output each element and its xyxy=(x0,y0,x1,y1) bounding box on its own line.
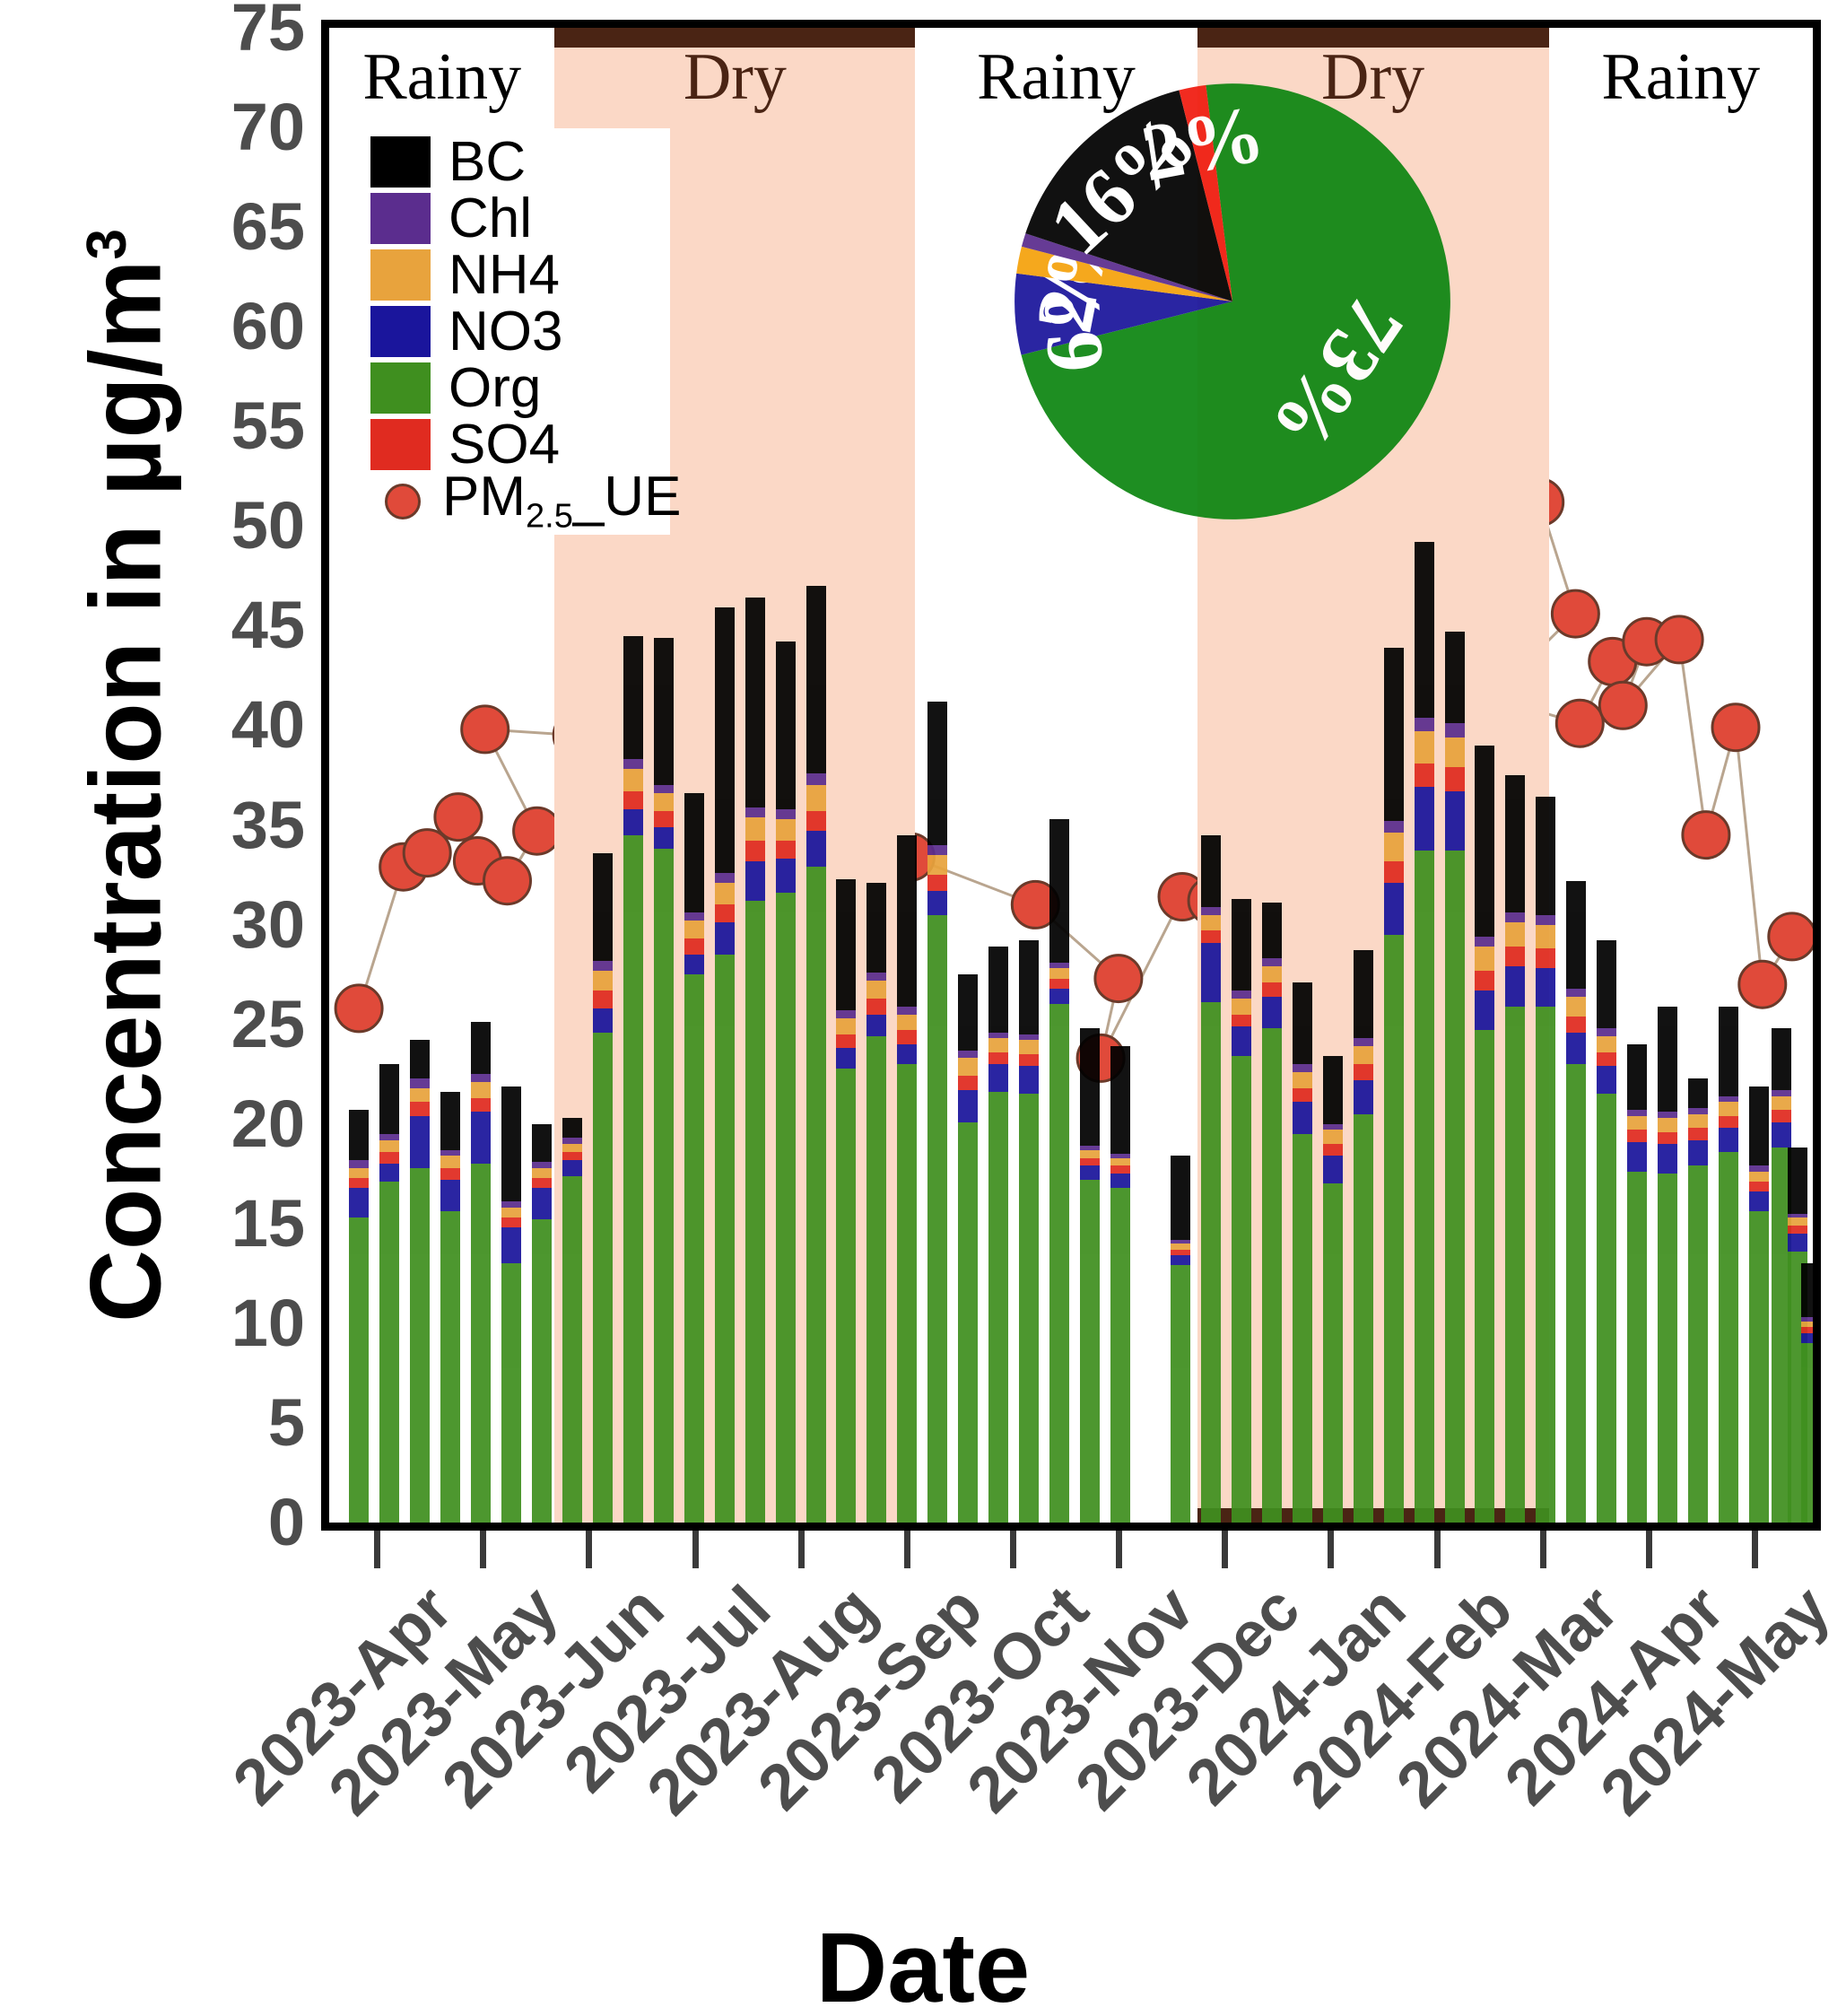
bar-segment-org xyxy=(471,1164,491,1523)
bar-segment-no3 xyxy=(1080,1165,1100,1180)
bar-segment-nh4 xyxy=(1566,997,1586,1017)
bar-segment-chl xyxy=(379,1134,399,1140)
stacked-bar xyxy=(1445,632,1465,1523)
bar-segment-so4 xyxy=(349,1178,369,1188)
bar-segment-chl xyxy=(866,973,886,981)
bar-segment-chl xyxy=(745,807,765,817)
bar-segment-so4 xyxy=(1323,1144,1343,1156)
bar-segment-no3 xyxy=(471,1112,491,1164)
stacked-bar xyxy=(684,793,704,1523)
legend-label: SO4 xyxy=(448,417,560,473)
bar-segment-org xyxy=(501,1263,521,1523)
bar-segment-no3 xyxy=(1110,1174,1130,1188)
bar-segment-no3 xyxy=(1801,1333,1821,1343)
pm25-marker xyxy=(514,807,561,854)
bar-segment-so4 xyxy=(1772,1110,1791,1121)
bar-segment-chl xyxy=(1110,1154,1130,1157)
bar-segment-bc xyxy=(1415,542,1434,717)
bar-segment-so4 xyxy=(684,938,704,955)
bar-segment-chl xyxy=(1232,991,1251,999)
stacked-bar xyxy=(1354,950,1373,1523)
bar-segment-nh4 xyxy=(654,793,674,811)
bar-segment-org xyxy=(654,849,674,1523)
bar-segment-bc xyxy=(410,1040,430,1078)
bar-segment-no3 xyxy=(745,861,765,901)
bar-segment-nh4 xyxy=(1475,947,1494,971)
pm25-marker xyxy=(1769,913,1816,960)
bar-segment-no3 xyxy=(1415,787,1434,851)
bar-segment-bc xyxy=(1080,1028,1100,1146)
bar-segment-so4 xyxy=(776,841,796,859)
bar-segment-nh4 xyxy=(1232,999,1251,1015)
bar-segment-no3 xyxy=(1049,989,1069,1005)
bar-segment-org xyxy=(836,1069,856,1523)
bar-segment-org xyxy=(1171,1265,1190,1523)
y-tick-label: 20 xyxy=(36,1091,305,1157)
stacked-bar xyxy=(1171,1156,1190,1523)
bar-segment-bc xyxy=(1384,648,1404,821)
bar-segment-chl xyxy=(654,785,674,793)
x-tick-mark xyxy=(1752,1531,1758,1568)
bar-segment-bc xyxy=(1749,1087,1769,1166)
bar-segment-nh4 xyxy=(1293,1072,1312,1088)
bar-segment-nh4 xyxy=(1049,968,1069,978)
stacked-bar xyxy=(1627,1044,1647,1523)
x-tick-mark xyxy=(904,1531,910,1568)
stacked-bar xyxy=(1080,1028,1100,1523)
bar-segment-no3 xyxy=(1232,1026,1251,1056)
x-tick-mark xyxy=(586,1531,592,1568)
bar-segment-org xyxy=(593,1033,613,1523)
bar-segment-chl xyxy=(715,873,735,883)
bar-segment-so4 xyxy=(836,1034,856,1049)
bar-segment-bc xyxy=(1110,1046,1130,1154)
bar-segment-bc xyxy=(440,1092,460,1149)
bar-segment-nh4 xyxy=(776,819,796,841)
bar-segment-nh4 xyxy=(1384,833,1404,860)
bar-segment-org xyxy=(1749,1211,1769,1523)
bar-segment-chl xyxy=(1627,1110,1647,1116)
bar-segment-bc xyxy=(745,598,765,807)
bar-segment-no3 xyxy=(532,1188,552,1220)
bar-segment-so4 xyxy=(1110,1165,1130,1174)
bar-segment-chl xyxy=(988,1033,1008,1039)
bar-segment-chl xyxy=(562,1138,582,1144)
y-tick-label: 5 xyxy=(36,1390,305,1456)
bar-segment-so4 xyxy=(1080,1158,1100,1166)
bar-segment-nh4 xyxy=(866,981,886,999)
bar-segment-chl xyxy=(1688,1108,1708,1114)
bar-segment-nh4 xyxy=(562,1144,582,1152)
bar-segment-bc xyxy=(866,883,886,973)
bar-segment-org xyxy=(866,1036,886,1523)
bar-segment-nh4 xyxy=(1749,1172,1769,1182)
bar-segment-no3 xyxy=(1688,1140,1708,1166)
bar-segment-chl xyxy=(776,809,796,819)
bar-segment-nh4 xyxy=(1505,922,1525,947)
bar-segment-chl xyxy=(836,1010,856,1018)
bar-segment-chl xyxy=(1719,1096,1738,1103)
y-tick-label: 40 xyxy=(36,692,305,758)
x-tick-mark xyxy=(1328,1531,1334,1568)
legend-item-nh4: NH4 xyxy=(370,247,666,303)
bar-segment-org xyxy=(1475,1030,1494,1523)
bar-segment-nh4 xyxy=(593,971,613,991)
bar-segment-no3 xyxy=(1788,1234,1807,1252)
bar-segment-bc xyxy=(1049,819,1069,963)
legend-label-pm25: PM2.5_UE xyxy=(442,469,681,533)
bar-segment-no3 xyxy=(1772,1122,1791,1148)
y-tick-label: 55 xyxy=(36,393,305,459)
legend-label: Chl xyxy=(448,191,532,247)
bar-segment-nh4 xyxy=(440,1156,460,1167)
bar-segment-nh4 xyxy=(1658,1118,1677,1132)
stacked-bar xyxy=(1658,1007,1677,1523)
bar-segment-no3 xyxy=(684,955,704,974)
bar-segment-bc xyxy=(623,636,643,760)
bar-segment-bc xyxy=(1354,950,1373,1038)
stacked-bar xyxy=(1749,1087,1769,1523)
bar-segment-chl xyxy=(1262,958,1282,966)
pm25-marker xyxy=(484,858,531,904)
y-tick-label: 30 xyxy=(36,892,305,958)
stacked-bar xyxy=(349,1110,369,1523)
legend-item-org: Org xyxy=(370,360,666,416)
bar-segment-so4 xyxy=(379,1152,399,1164)
stacked-bar xyxy=(1232,899,1251,1523)
y-tick-label: 35 xyxy=(36,792,305,859)
bar-segment-so4 xyxy=(1354,1064,1373,1080)
bar-segment-bc xyxy=(379,1064,399,1134)
y-tick-label: 50 xyxy=(36,493,305,559)
bar-segment-bc xyxy=(684,793,704,912)
legend-label: NH4 xyxy=(448,248,560,303)
bar-segment-org xyxy=(410,1168,430,1523)
bar-segment-so4 xyxy=(927,875,947,891)
stacked-bar xyxy=(471,1022,491,1523)
y-tick-label: 45 xyxy=(36,592,305,659)
bar-segment-chl xyxy=(897,1007,917,1015)
bar-segment-org xyxy=(1201,1002,1221,1523)
bar-segment-chl xyxy=(532,1162,552,1168)
x-tick-mark xyxy=(1540,1531,1546,1568)
bar-segment-bc xyxy=(1293,982,1312,1064)
x-axis-tick-labels: 2023-Apr2023-May2023-Jun2023-Jul2023-Aug… xyxy=(0,1572,1846,1913)
bar-segment-nh4 xyxy=(1080,1150,1100,1158)
bar-segment-bc xyxy=(1475,746,1494,937)
y-tick-label: 10 xyxy=(36,1290,305,1357)
bar-segment-so4 xyxy=(1171,1250,1190,1256)
bar-segment-no3 xyxy=(1201,943,1221,1003)
bar-segment-org xyxy=(1049,1004,1069,1523)
bar-segment-no3 xyxy=(927,891,947,915)
bar-segment-org xyxy=(897,1064,917,1523)
bar-segment-nh4 xyxy=(1536,925,1555,949)
bar-segment-nh4 xyxy=(1772,1096,1791,1111)
bar-segment-bc xyxy=(1019,940,1039,1034)
bar-segment-so4 xyxy=(1536,948,1555,968)
stacked-bar xyxy=(1505,775,1525,1523)
bar-segment-chl xyxy=(623,759,643,769)
bar-segment-nh4 xyxy=(471,1082,491,1098)
bar-segment-org xyxy=(1719,1152,1738,1523)
bar-segment-so4 xyxy=(715,904,735,922)
bar-segment-nh4 xyxy=(897,1015,917,1031)
y-tick-label: 75 xyxy=(36,0,305,61)
legend-label: Org xyxy=(448,361,541,416)
pm25-marker xyxy=(1552,590,1598,637)
bar-segment-bc xyxy=(715,607,735,872)
bar-segment-org xyxy=(1688,1165,1708,1523)
bar-segment-org xyxy=(1566,1064,1586,1523)
bar-segment-org xyxy=(1415,851,1434,1523)
bar-segment-bc xyxy=(1658,1007,1677,1113)
bar-segment-nh4 xyxy=(988,1038,1008,1052)
bar-segment-org xyxy=(1384,935,1404,1523)
bar-segment-bc xyxy=(1536,797,1555,914)
bar-segment-nh4 xyxy=(1323,1130,1343,1144)
bar-segment-no3 xyxy=(1536,968,1555,1006)
bar-segment-nh4 xyxy=(806,785,826,811)
legend-swatch-so4 xyxy=(370,419,431,470)
bar-segment-bc xyxy=(1772,1028,1791,1090)
x-tick-mark xyxy=(1116,1531,1122,1568)
bar-segment-so4 xyxy=(1688,1128,1708,1139)
bar-segment-bc xyxy=(1445,632,1465,723)
x-tick-mark xyxy=(374,1531,380,1568)
bar-segment-chl xyxy=(1505,912,1525,922)
plot-area: RainyDryRainyDryRainy BCChlNH4NO3OrgSO4P… xyxy=(321,20,1821,1531)
bar-segment-nh4 xyxy=(684,921,704,938)
bar-segment-chl xyxy=(410,1078,430,1088)
bar-segment-nh4 xyxy=(836,1018,856,1034)
stacked-bar xyxy=(988,947,1008,1523)
pm25-marker xyxy=(1599,682,1646,729)
stacked-bar xyxy=(562,1118,582,1523)
bar-segment-chl xyxy=(1049,963,1069,969)
bar-segment-no3 xyxy=(988,1064,1008,1092)
stacked-bar xyxy=(715,607,735,1523)
bar-segment-so4 xyxy=(1658,1132,1677,1144)
bar-segment-so4 xyxy=(1019,1054,1039,1066)
pm25-marker xyxy=(1712,704,1759,751)
bar-segment-org xyxy=(958,1122,978,1523)
stacked-bar xyxy=(1536,797,1555,1523)
chart-figure: Concentration in µg/m3 05101520253035404… xyxy=(0,0,1846,2016)
bar-segment-bc xyxy=(1262,903,1282,958)
bar-segment-so4 xyxy=(654,811,674,827)
bar-segment-chl xyxy=(1201,907,1221,915)
bar-segment-chl xyxy=(1801,1317,1821,1321)
y-tick-label: 70 xyxy=(36,94,305,161)
bar-segment-nh4 xyxy=(1171,1244,1190,1250)
bar-segment-chl xyxy=(1566,989,1586,997)
bar-segment-no3 xyxy=(1627,1142,1647,1172)
bar-segment-nh4 xyxy=(1201,915,1221,931)
stacked-bar xyxy=(1262,903,1282,1523)
pm25-marker xyxy=(1656,616,1702,663)
x-tick-mark xyxy=(1434,1531,1441,1568)
stacked-bar xyxy=(532,1124,552,1523)
bar-segment-so4 xyxy=(1719,1116,1738,1128)
stacked-bar xyxy=(440,1092,460,1523)
bar-segment-nh4 xyxy=(379,1140,399,1152)
stacked-bar xyxy=(1201,835,1221,1523)
bar-segment-so4 xyxy=(745,841,765,860)
bar-segment-no3 xyxy=(1749,1191,1769,1211)
stacked-bar xyxy=(897,835,917,1523)
bar-segment-org xyxy=(1019,1094,1039,1523)
bar-segment-nh4 xyxy=(958,1058,978,1076)
bar-segment-bc xyxy=(1688,1078,1708,1108)
legend-item-pm25: PM2.5_UE xyxy=(370,473,666,529)
bar-segment-so4 xyxy=(897,1030,917,1044)
bar-segment-so4 xyxy=(1475,971,1494,991)
bar-segment-so4 xyxy=(593,991,613,1008)
stacked-bar xyxy=(1719,1007,1738,1523)
legend-pm-text: PM xyxy=(442,466,526,528)
bar-segment-bc xyxy=(1323,1056,1343,1124)
bar-segment-no3 xyxy=(410,1116,430,1168)
legend-item-chl: Chl xyxy=(370,190,666,247)
bar-segment-no3 xyxy=(1597,1066,1616,1094)
y-tick-label: 15 xyxy=(36,1191,305,1257)
legend-pm-suffix: _UE xyxy=(573,466,682,528)
bar-segment-nh4 xyxy=(349,1168,369,1178)
bar-segment-so4 xyxy=(1445,767,1465,791)
stacked-bar xyxy=(958,974,978,1523)
bar-segment-org xyxy=(1323,1183,1343,1523)
legend-swatch-chl xyxy=(370,193,431,244)
bar-segment-so4 xyxy=(1415,764,1434,788)
bar-segment-so4 xyxy=(1293,1088,1312,1103)
bar-segment-so4 xyxy=(1384,861,1404,883)
bar-segment-org xyxy=(1658,1174,1677,1523)
bar-segment-org xyxy=(988,1092,1008,1523)
bar-segment-bc xyxy=(1171,1156,1190,1239)
stacked-bar xyxy=(1688,1078,1708,1523)
pm25-marker xyxy=(1556,700,1603,746)
bar-segment-bc xyxy=(1201,835,1221,907)
stacked-bar xyxy=(410,1040,430,1523)
bar-segment-no3 xyxy=(806,831,826,867)
bar-segment-org xyxy=(745,901,765,1523)
bar-segment-nh4 xyxy=(1627,1116,1647,1130)
bar-segment-so4 xyxy=(1505,947,1525,966)
bar-segment-org xyxy=(684,974,704,1523)
bar-segment-no3 xyxy=(1719,1128,1738,1152)
bar-segment-org xyxy=(1505,1007,1525,1523)
bar-segment-chl xyxy=(1597,1028,1616,1036)
bar-segment-nh4 xyxy=(623,769,643,790)
bar-segment-bc xyxy=(1719,1007,1738,1096)
bar-segment-so4 xyxy=(1232,1015,1251,1026)
bar-segment-chl xyxy=(927,845,947,855)
bar-segment-chl xyxy=(440,1150,460,1156)
stacked-bar xyxy=(1049,819,1069,1523)
bar-segment-org xyxy=(1354,1114,1373,1523)
bar-segment-so4 xyxy=(1201,930,1221,942)
x-tick-mark xyxy=(1222,1531,1228,1568)
bar-segment-nh4 xyxy=(1415,731,1434,764)
stacked-bar xyxy=(866,883,886,1523)
bar-segment-nh4 xyxy=(927,855,947,875)
stacked-bar xyxy=(1323,1056,1343,1523)
legend-marker-dot xyxy=(385,484,421,519)
bar-segment-chl xyxy=(593,961,613,971)
stacked-bar xyxy=(1415,542,1434,1523)
x-axis-title: Date xyxy=(0,1911,1846,2016)
bar-segment-chl xyxy=(501,1201,521,1208)
bar-segment-nh4 xyxy=(1354,1046,1373,1064)
bar-segment-org xyxy=(1597,1094,1616,1523)
season-label-rainy: Rainy xyxy=(329,44,554,110)
legend-swatch-no3 xyxy=(370,306,431,357)
season-label-dry: Dry xyxy=(554,44,915,110)
stacked-bar xyxy=(379,1064,399,1523)
x-tick-mark xyxy=(692,1531,699,1568)
bar-segment-bc xyxy=(1566,881,1586,989)
bar-segment-nh4 xyxy=(532,1168,552,1178)
bar-segment-so4 xyxy=(1801,1327,1821,1333)
bar-segment-so4 xyxy=(532,1178,552,1188)
bar-segment-chl xyxy=(1323,1124,1343,1130)
bar-segment-no3 xyxy=(715,922,735,955)
bar-segment-no3 xyxy=(1293,1102,1312,1134)
pie-chart-inset: 73%6%2%16%2% xyxy=(1011,80,1454,523)
bar-segment-chl xyxy=(1080,1146,1100,1149)
bar-segment-bc xyxy=(988,947,1008,1033)
bar-segment-no3 xyxy=(379,1164,399,1182)
x-tick-mark xyxy=(1646,1531,1652,1568)
legend-item-no3: NO3 xyxy=(370,303,666,360)
bar-segment-no3 xyxy=(562,1160,582,1176)
bar-segment-so4 xyxy=(1049,979,1069,989)
bar-segment-bc xyxy=(1801,1263,1821,1317)
bar-segment-org xyxy=(562,1176,582,1523)
legend-item-bc: BC xyxy=(370,134,666,190)
bar-segment-chl xyxy=(1445,723,1465,737)
bar-segment-chl xyxy=(1019,1034,1039,1041)
pie-chart-svg: 73%6%2%16%2% xyxy=(1011,80,1454,523)
bar-segment-bc xyxy=(593,853,613,961)
bar-segment-no3 xyxy=(1384,883,1404,935)
bar-segment-org xyxy=(927,915,947,1523)
bar-segment-so4 xyxy=(866,999,886,1015)
pm25-marker xyxy=(1683,812,1729,859)
x-tick-mark xyxy=(1010,1531,1016,1568)
stacked-bar xyxy=(1475,746,1494,1523)
bar-segment-nh4 xyxy=(1262,966,1282,982)
bar-segment-org xyxy=(1445,851,1465,1523)
bar-segment-org xyxy=(349,1217,369,1523)
bar-segment-bc xyxy=(562,1118,582,1138)
stacked-bar xyxy=(501,1087,521,1523)
bar-segment-so4 xyxy=(440,1168,460,1180)
y-tick-label: 0 xyxy=(36,1489,305,1556)
bar-segment-no3 xyxy=(1475,991,1494,1030)
bar-segment-org xyxy=(379,1182,399,1523)
legend-label: NO3 xyxy=(448,304,562,360)
x-axis-ticks xyxy=(321,1531,1821,1570)
stacked-bar xyxy=(927,702,947,1523)
bar-segment-bc xyxy=(501,1087,521,1202)
bar-segment-so4 xyxy=(562,1152,582,1160)
bar-segment-org xyxy=(776,893,796,1523)
stacked-bar xyxy=(1110,1046,1130,1523)
bar-segment-no3 xyxy=(1354,1080,1373,1114)
bar-segment-so4 xyxy=(1788,1226,1807,1234)
